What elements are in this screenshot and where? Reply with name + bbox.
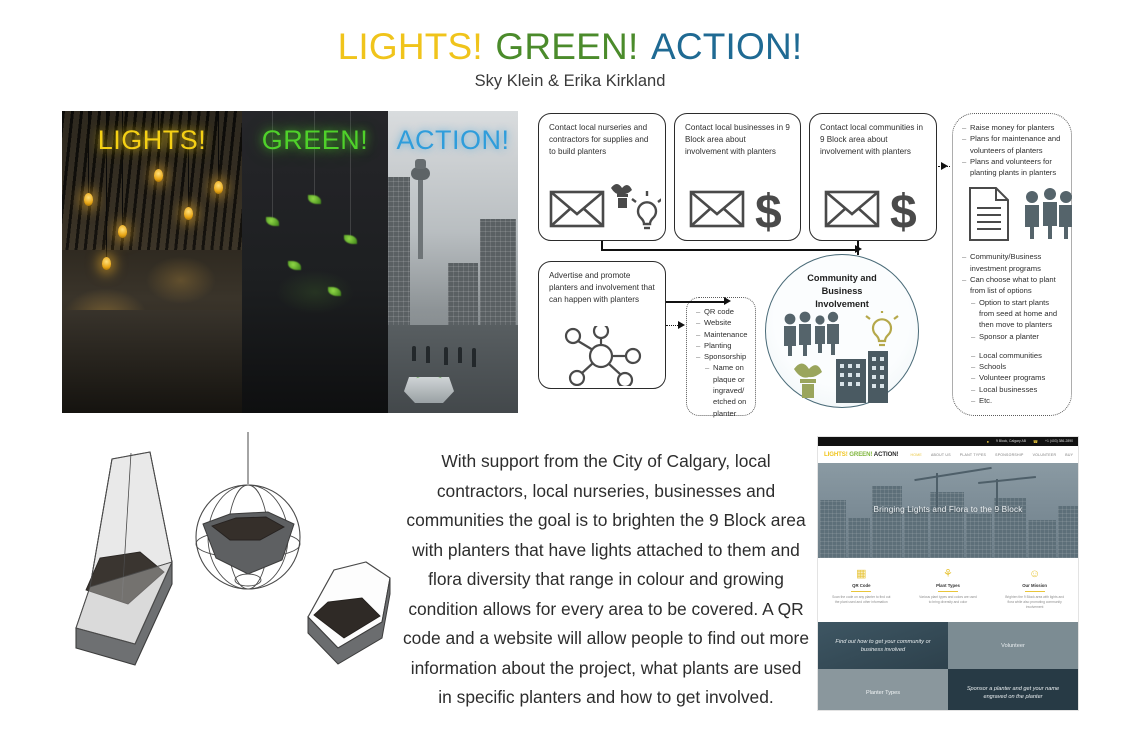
website-promo-cell[interactable]: Sponsor a planter and get your name engr…: [948, 669, 1078, 710]
website-feature[interactable]: ⚘Plant TypesVarious plant types and colo…: [909, 568, 987, 610]
feature-rule: [1025, 591, 1045, 592]
title-word-action: ACTION!: [650, 26, 803, 67]
panel-label-action: ACTION!: [388, 125, 518, 156]
document-icon: [970, 188, 1008, 240]
circle-title: Community and Business Involvement: [766, 272, 918, 311]
flow-arrow-stem: [857, 241, 859, 255]
street-surface: [388, 325, 518, 413]
website-promo-cell[interactable]: Volunteer: [948, 622, 1078, 669]
title-word-lights: LIGHTS!: [337, 26, 484, 67]
promotion-details-list: QR codeWebsiteMaintenancePlantingSponsor…: [686, 297, 756, 416]
list-item: Community/Business investment programs: [962, 251, 1063, 274]
panel-label-green: GREEN!: [242, 125, 388, 156]
envelope-plant-bulb-icons: [549, 176, 661, 234]
pedestrian: [472, 348, 476, 367]
planter-3d-models: [60, 432, 412, 678]
hero-building: [966, 514, 992, 558]
plant-icon: [794, 364, 822, 399]
website-hero-title: Bringing Lights and Flora to the 9 Block: [818, 505, 1078, 514]
list-item: Name on plaque or ingraved/ etched on pl…: [696, 362, 747, 418]
website-feature[interactable]: ☺Our MissionBrighten the 9 Block area wi…: [996, 568, 1074, 610]
list-item: Etc.: [962, 395, 1063, 406]
list-item: Maintenance: [696, 329, 747, 340]
outcomes-bottom-list: Community/Business investment programsCa…: [962, 251, 1063, 406]
title-word-green: GREEN!: [494, 26, 639, 67]
feature-description: Brighten the 9 Block area with lights an…: [996, 595, 1074, 610]
list-item: Sponsorship: [696, 351, 747, 362]
feature-title: Plant Types: [909, 583, 987, 588]
feature-description: Various plant types and colors are used …: [909, 595, 987, 605]
list-item: Schools: [962, 361, 1063, 372]
page-title: LIGHTS! GREEN! ACTION!: [0, 26, 1140, 68]
flow-arrowhead: [941, 162, 948, 170]
flow-arrowhead: [724, 297, 731, 305]
calgary-tower-icon: [418, 167, 423, 259]
buildings-icon: [836, 351, 888, 403]
pedestrian: [458, 347, 462, 363]
flow-box-text: Contact local businesses in 9 Block area…: [685, 122, 791, 159]
hero-building: [904, 508, 928, 558]
location-pin-icon: ●: [987, 439, 989, 444]
street-planter-model: [404, 377, 454, 403]
website-navbar: LIGHTS! GREEN! ACTION! HOMEABOUT USPLANT…: [818, 446, 1078, 463]
pedestrian: [444, 347, 448, 365]
flow-arrow-stem: [601, 241, 603, 250]
circle-title-line: Involvement: [766, 298, 918, 311]
website-feature-row: ▦QR CodeScan the code on any planter to …: [818, 558, 1078, 622]
website-feature[interactable]: ▦QR CodeScan the code on any planter to …: [822, 568, 900, 610]
website-promo-grid: Find out how to get your community or bu…: [818, 622, 1078, 710]
community-business-involvement-circle: Community and Business Involvement: [765, 254, 919, 408]
logo-part-lights: LIGHTS!: [824, 451, 848, 458]
circle-title-line: Business: [766, 285, 918, 298]
people-icon: [1025, 188, 1072, 239]
phone-icon: ☎: [1033, 439, 1038, 444]
pedestrian: [426, 346, 430, 363]
photo-panel-lights: LIGHTS!: [62, 111, 242, 413]
website-promo-cell[interactable]: Planter Types: [818, 669, 948, 710]
lightbulb-icon: [866, 311, 898, 345]
flow-box-contact-businesses: Contact local businesses in 9 Block area…: [674, 113, 801, 241]
plant-leaf-icon: [344, 235, 357, 244]
envelope-dollar-icons: $: [689, 176, 797, 234]
list-item: Plans and volunteers for planting plants…: [962, 156, 1063, 179]
flow-arrow-horizontal: [601, 249, 857, 251]
outcomes-top-list: Raise money for plantersPlans for mainte…: [962, 122, 1063, 178]
people-icon: [784, 312, 839, 356]
qr-code-icon: ▦: [822, 568, 900, 580]
panel-label-lights: LIGHTS!: [62, 125, 242, 156]
list-item: Raise money for planters: [962, 122, 1063, 133]
feature-rule: [851, 591, 871, 592]
flow-box-text: Contact local nurseries and contractors …: [549, 122, 656, 159]
crane-jib-icon: [914, 467, 991, 481]
hero-building: [1028, 520, 1056, 558]
pedestrian: [412, 346, 416, 361]
list-item: Sponsor a planter: [962, 331, 1063, 342]
flow-arrow-to-circle: [666, 301, 726, 303]
flow-arrowhead: [678, 321, 685, 329]
list-item: Local businesses: [962, 384, 1063, 395]
plant-leaf-icon: [288, 261, 301, 270]
photo-panel-green: GREEN!: [242, 111, 388, 413]
website-topbar: ● 9 Block, Calgary AB ☎ +1 (403) 386-289…: [818, 437, 1078, 446]
building-silhouette: [388, 177, 410, 327]
angled-trapezoid-planter: [308, 562, 390, 664]
feature-rule: [938, 591, 958, 592]
website-menu-item[interactable]: PLANT TYPES: [960, 453, 986, 457]
process-flowchart: Contact local nurseries and contractors …: [528, 111, 1080, 416]
plant-leaf-icon: [328, 287, 341, 296]
authors-line: Sky Klein & Erika Kirkland: [0, 72, 1140, 91]
circle-icons: [780, 311, 906, 403]
hero-building: [872, 486, 902, 558]
feature-title: Our Mission: [996, 583, 1074, 588]
website-menu-item[interactable]: VOLUNTEER: [1033, 453, 1057, 457]
website-phone: +1 (403) 386-2890: [1045, 439, 1073, 443]
logo-part-action: ACTION!: [874, 451, 899, 458]
hanging-sphere-planter: [196, 432, 300, 589]
website-promo-cell[interactable]: Find out how to get your community or bu…: [818, 622, 948, 669]
website-menu-item[interactable]: HOME: [910, 453, 922, 457]
building-silhouette: [480, 219, 516, 327]
floor-texture: [62, 310, 242, 413]
promotion-list-items: QR codeWebsiteMaintenancePlantingSponsor…: [696, 306, 747, 419]
svg-text:$: $: [755, 186, 782, 234]
website-menu-item[interactable]: ABOUT US: [931, 453, 951, 457]
feature-description: Scan the code on any planter to find out…: [822, 595, 900, 605]
feature-title: QR Code: [822, 583, 900, 588]
plant-icon: ⚘: [909, 568, 987, 580]
flow-box-text: Advertise and promote planters and invol…: [549, 270, 656, 307]
list-item: Can choose what to plant from list of op…: [962, 274, 1063, 297]
list-item: Local communities: [962, 350, 1063, 361]
flow-box-advertise-promote: Advertise and promote planters and invol…: [538, 261, 666, 389]
logo-part-green: GREEN!: [849, 451, 872, 458]
crane-jib-icon: [978, 476, 1036, 484]
photo-panel-action: ACTION!: [388, 111, 518, 413]
hero-building: [1058, 506, 1078, 558]
list-item: Planting: [696, 340, 747, 351]
website-location: 9 Block, Calgary AB: [996, 439, 1026, 443]
website-menu: HOMEABOUT USPLANT TYPESSPONSORSHIPVOLUNT…: [910, 453, 1073, 457]
list-item: Website: [696, 317, 747, 328]
list-item: Plans for maintenance and volunteers of …: [962, 133, 1063, 156]
website-menu-item[interactable]: BUY: [1065, 453, 1073, 457]
website-hero: Bringing Lights and Flora to the 9 Block: [818, 463, 1078, 558]
body-paragraph: With support from the City of Calgary, l…: [402, 447, 810, 713]
website-logo[interactable]: LIGHTS! GREEN! ACTION!: [824, 451, 898, 458]
list-item: QR code: [696, 306, 747, 317]
outcomes-panel: Raise money for plantersPlans for mainte…: [952, 113, 1072, 416]
document-people-icons: [966, 186, 1072, 242]
tall-hexagonal-planter: [76, 452, 172, 665]
plant-leaf-icon: [308, 195, 321, 204]
network-icon: [557, 326, 649, 386]
website-mockup: ● 9 Block, Calgary AB ☎ +1 (403) 386-289…: [818, 437, 1078, 710]
list-item: Volunteer programs: [962, 372, 1063, 383]
flow-box-contact-nurseries: Contact local nurseries and contractors …: [538, 113, 666, 241]
circle-title-line: Community and: [766, 272, 918, 285]
website-menu-item[interactable]: SPONSORSHIP: [995, 453, 1023, 457]
photo-collage-banner: LIGHTS! GREEN! ACTION!: [62, 111, 518, 413]
handshake-icon: ☺: [996, 568, 1074, 580]
website-contact-info: ● 9 Block, Calgary AB ☎ +1 (403) 386-289…: [987, 439, 1073, 444]
flow-box-text: Contact local communities in 9 Block are…: [820, 122, 927, 159]
hero-building: [848, 518, 870, 558]
svg-text:$: $: [890, 186, 917, 234]
flow-box-contact-communities: Contact local communities in 9 Block are…: [809, 113, 937, 241]
list-item: Option to start plants from seed at home…: [962, 297, 1063, 331]
building-silhouette: [448, 263, 478, 327]
envelope-dollar-icons: $: [824, 176, 932, 234]
plant-leaf-icon: [266, 217, 279, 226]
